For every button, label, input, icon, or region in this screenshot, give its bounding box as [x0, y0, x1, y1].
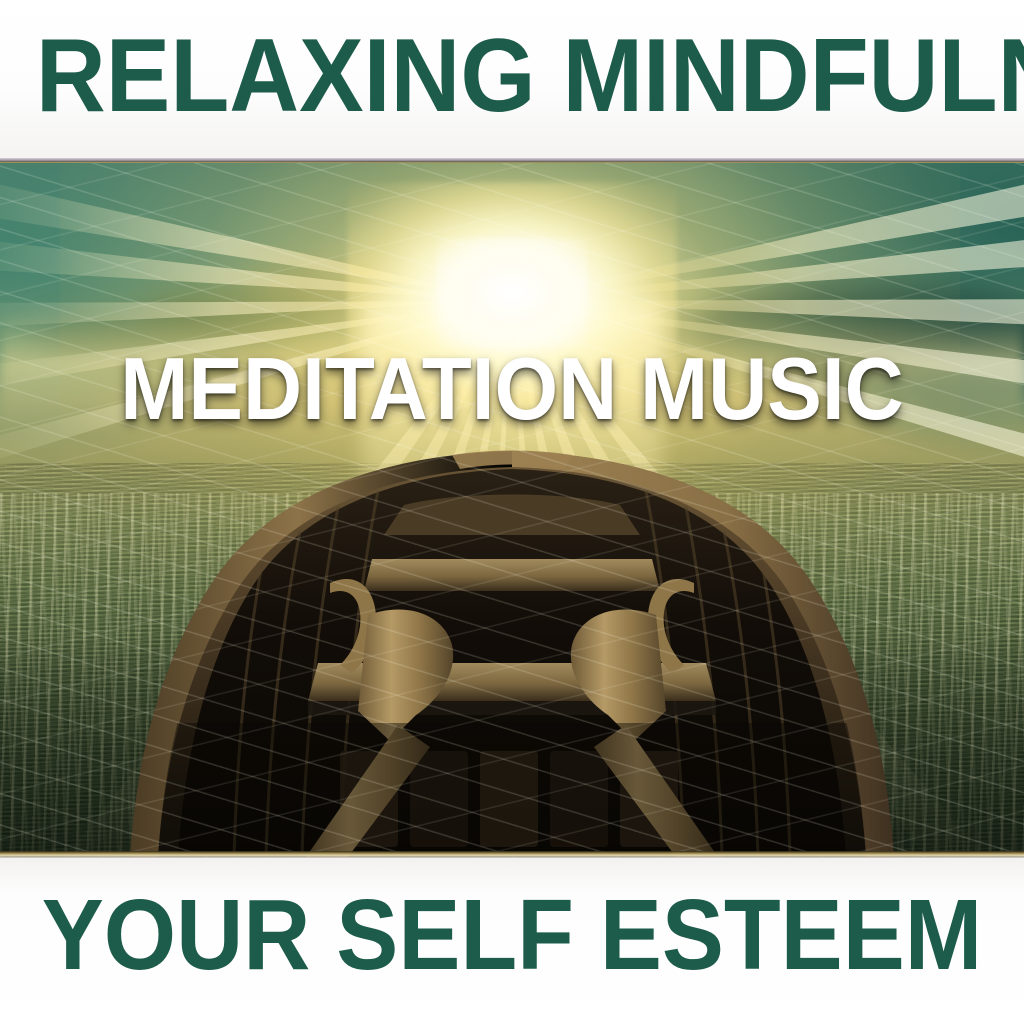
bottom-divider-rule — [0, 851, 1024, 858]
rowboat — [0, 163, 1024, 857]
title-relaxing-mindfulness: RELAXING MINDFULNESS — [36, 24, 988, 128]
boat-forward-thwart — [364, 559, 660, 591]
cover-photo: MEDITATION MUSIC GETTING BACK — [0, 163, 1024, 857]
title-your-self-esteem: YOUR SELF ESTEEM — [36, 885, 988, 985]
top-divider-rule — [0, 158, 1024, 163]
subtitle-meditation-music: MEDITATION MUSIC — [36, 345, 988, 433]
album-cover: MEDITATION MUSIC GETTING BACK RELAXING M… — [0, 0, 1024, 1024]
